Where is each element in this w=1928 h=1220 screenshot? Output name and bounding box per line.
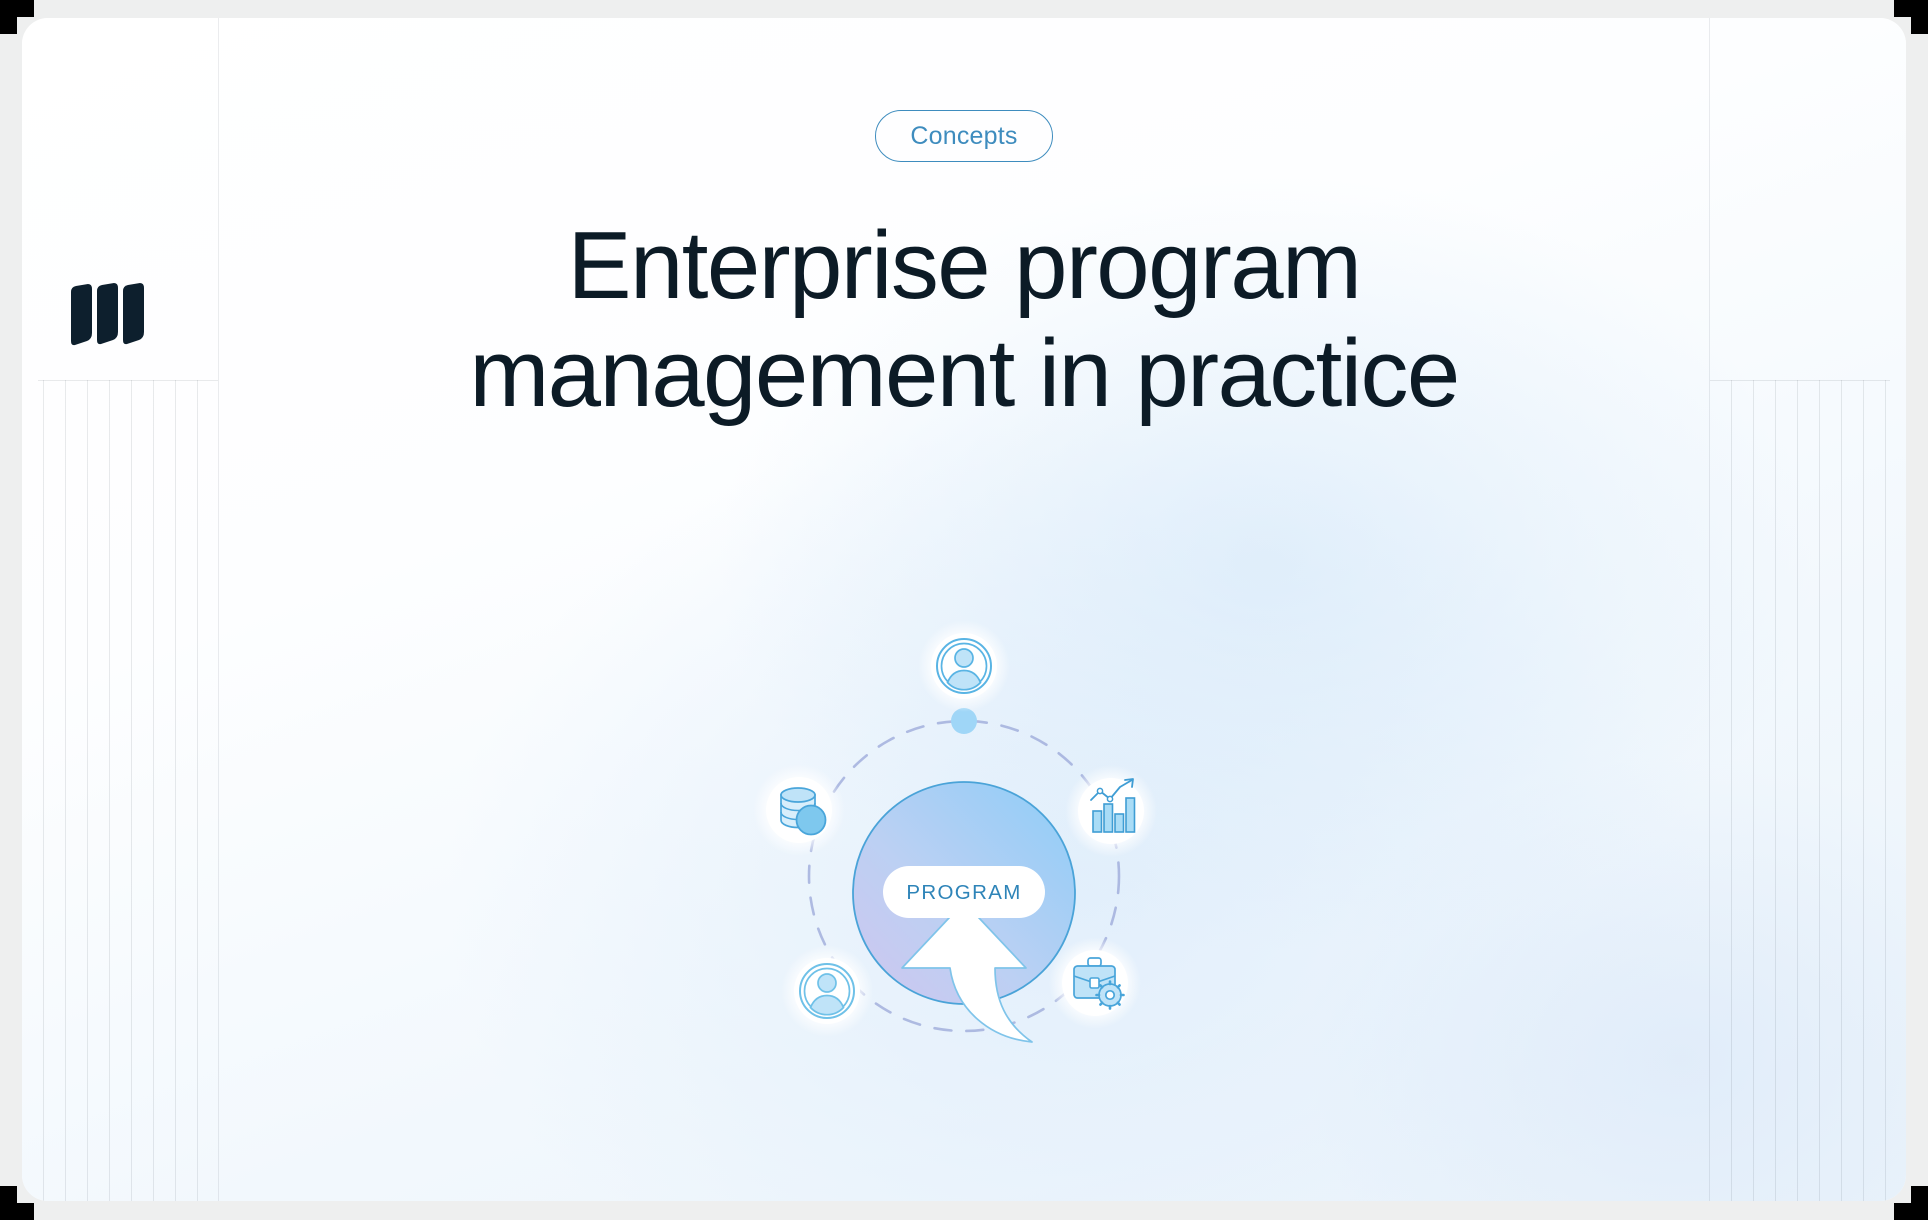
right-stripe-band [1710,380,1906,1201]
crop-mark-bottom-left [0,1186,34,1220]
page-title-line-1: Enterprise program [469,212,1458,320]
slide-header: Concepts Enterprise program management i… [22,18,1906,427]
page-title: Enterprise program management in practic… [469,212,1458,427]
right-stripe-panel [1710,380,1906,1201]
left-stripe-panel [22,380,218,1201]
left-stripe-band [22,380,218,1201]
crop-mark-top-right [1894,0,1928,34]
node-bottom-left-person[interactable] [781,945,873,1037]
slide-canvas: Concepts Enterprise program management i… [0,0,1928,1220]
crop-mark-bottom-right [1894,1186,1928,1220]
page-title-line-2: management in practice [469,320,1458,428]
program-center-pill: PROGRAM [883,866,1045,918]
category-badge: Concepts [875,110,1052,162]
node-left-budget[interactable] [753,764,845,856]
crop-mark-top-left [0,0,34,34]
node-right-analytics[interactable] [1065,765,1157,857]
program-center-label: PROGRAM [906,881,1021,904]
slide-card: Concepts Enterprise program management i… [22,18,1906,1201]
node-top-person[interactable] [918,620,1010,712]
program-hub-cycle-diagram: PROGRAM [754,628,1174,1058]
node-bottom-right-operations[interactable] [1049,937,1141,1029]
